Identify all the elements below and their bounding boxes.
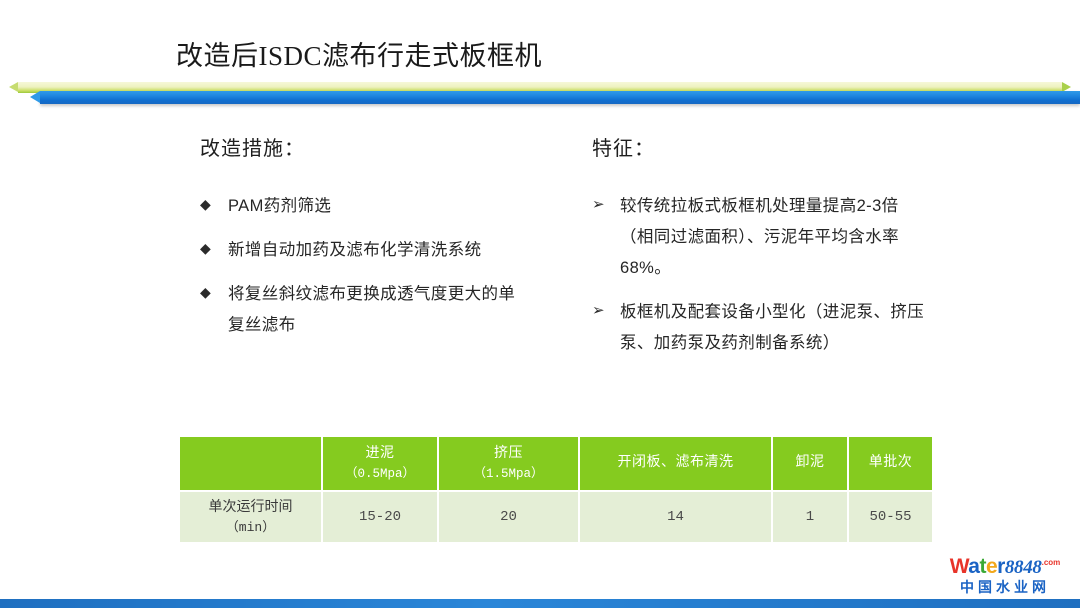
watermark-letter-e: e xyxy=(986,555,997,578)
page-title: 改造后ISDC滤布行走式板框机 xyxy=(176,34,542,73)
table-row: 单次运行时间 （min） 15-20 20 14 1 50-55 xyxy=(180,490,932,542)
table-header-sub: （1.5Mpa） xyxy=(439,465,578,483)
table-header-main: 挤压 xyxy=(494,446,523,461)
watermark-tld: .com xyxy=(1042,558,1061,567)
table-row-label-main: 单次运行时间 xyxy=(209,500,293,515)
right-bullet-list: ➢ 较传统拉板式板框机处理量提高2-3倍（相同过滤面积）、污泥年平均含水率68%… xyxy=(592,191,932,359)
table-cell-discharge-time: 1 xyxy=(773,490,847,542)
run-time-table: 进泥 （0.5Mpa） 挤压 （1.5Mpa） 开闭板、滤布清洗 卸泥 单批次 xyxy=(178,437,934,542)
table-row-label-sub: （min） xyxy=(180,518,321,538)
table-cell-feed-time: 15-20 xyxy=(323,490,437,542)
arrow-bullet-icon: ➢ xyxy=(592,191,620,219)
table-header-cell-plate-cloth-wash: 开闭板、滤布清洗 xyxy=(580,437,771,490)
left-bullet-list: ◆ PAM药剂筛选 ◆ 新增自动加药及滤布化学清洗系统 ◆ 将复丝斜纹滤布更换成… xyxy=(200,191,530,341)
right-column-heading: 特征： xyxy=(592,132,932,161)
title-rule-blue xyxy=(40,91,1080,104)
slide-canvas: 改造后ISDC滤布行走式板框机 改造措施： ◆ PAM药剂筛选 ◆ 新增自动加药… xyxy=(0,0,1080,608)
table-header-main: 单批次 xyxy=(869,455,913,470)
watermark-wordmark: Water8848.com xyxy=(944,556,1066,577)
watermark-logo: Water8848.com 中国水业网 xyxy=(944,556,1066,600)
list-item: ◆ 新增自动加药及滤布化学清洗系统 xyxy=(200,235,530,266)
arrow-bullet-icon: ➢ xyxy=(592,297,620,325)
table-header-sub: （0.5Mpa） xyxy=(323,465,437,483)
table-header-main: 进泥 xyxy=(366,446,395,461)
list-item: ➢ 较传统拉板式板框机处理量提高2-3倍（相同过滤面积）、污泥年平均含水率68%… xyxy=(592,191,932,284)
table-cell-batch-time: 50-55 xyxy=(849,490,932,542)
watermark-letter-r: r xyxy=(997,555,1005,578)
table-cell-press-time: 20 xyxy=(439,490,578,542)
left-column-heading: 改造措施： xyxy=(200,132,530,161)
footer-blue-strip xyxy=(0,599,1080,608)
table-header-main: 卸泥 xyxy=(796,455,825,470)
list-item: ◆ 将复丝斜纹滤布更换成透气度更大的单复丝滤布 xyxy=(200,279,530,341)
table-header-cell-press: 挤压 （1.5Mpa） xyxy=(439,437,578,490)
table-header-row: 进泥 （0.5Mpa） 挤压 （1.5Mpa） 开闭板、滤布清洗 卸泥 单批次 xyxy=(180,437,932,490)
table-header-cell-discharge: 卸泥 xyxy=(773,437,847,490)
watermark-number: 8848 xyxy=(1005,557,1042,578)
list-item-text: PAM药剂筛选 xyxy=(228,191,530,222)
right-content-column: 特征： ➢ 较传统拉板式板框机处理量提高2-3倍（相同过滤面积）、污泥年平均含水… xyxy=(592,132,932,372)
watermark-letter-w: W xyxy=(950,555,969,578)
list-item: ➢ 板框机及配套设备小型化（进泥泵、挤压泵、加药泵及药剂制备系统） xyxy=(592,297,932,359)
watermark-letter-a: a xyxy=(968,555,979,578)
list-item-text: 板框机及配套设备小型化（进泥泵、挤压泵、加药泵及药剂制备系统） xyxy=(620,297,932,359)
table-row-label: 单次运行时间 （min） xyxy=(180,490,321,542)
table-header-cell-feed: 进泥 （0.5Mpa） xyxy=(323,437,437,490)
list-item-text: 较传统拉板式板框机处理量提高2-3倍（相同过滤面积）、污泥年平均含水率68%。 xyxy=(620,191,932,284)
list-item-text: 将复丝斜纹滤布更换成透气度更大的单复丝滤布 xyxy=(228,279,530,341)
watermark-chinese-name: 中国水业网 xyxy=(944,580,1066,594)
table-header-cell-batch: 单批次 xyxy=(849,437,932,490)
list-item-text: 新增自动加药及滤布化学清洗系统 xyxy=(228,235,530,266)
left-content-column: 改造措施： ◆ PAM药剂筛选 ◆ 新增自动加药及滤布化学清洗系统 ◆ 将复丝斜… xyxy=(200,132,530,354)
diamond-bullet-icon: ◆ xyxy=(200,279,228,305)
diamond-bullet-icon: ◆ xyxy=(200,235,228,261)
table-cell-wash-time: 14 xyxy=(580,490,771,542)
table-header-main: 开闭板、滤布清洗 xyxy=(618,455,734,470)
table-header-cell-blank xyxy=(180,437,321,490)
list-item: ◆ PAM药剂筛选 xyxy=(200,191,530,222)
diamond-bullet-icon: ◆ xyxy=(200,191,228,217)
